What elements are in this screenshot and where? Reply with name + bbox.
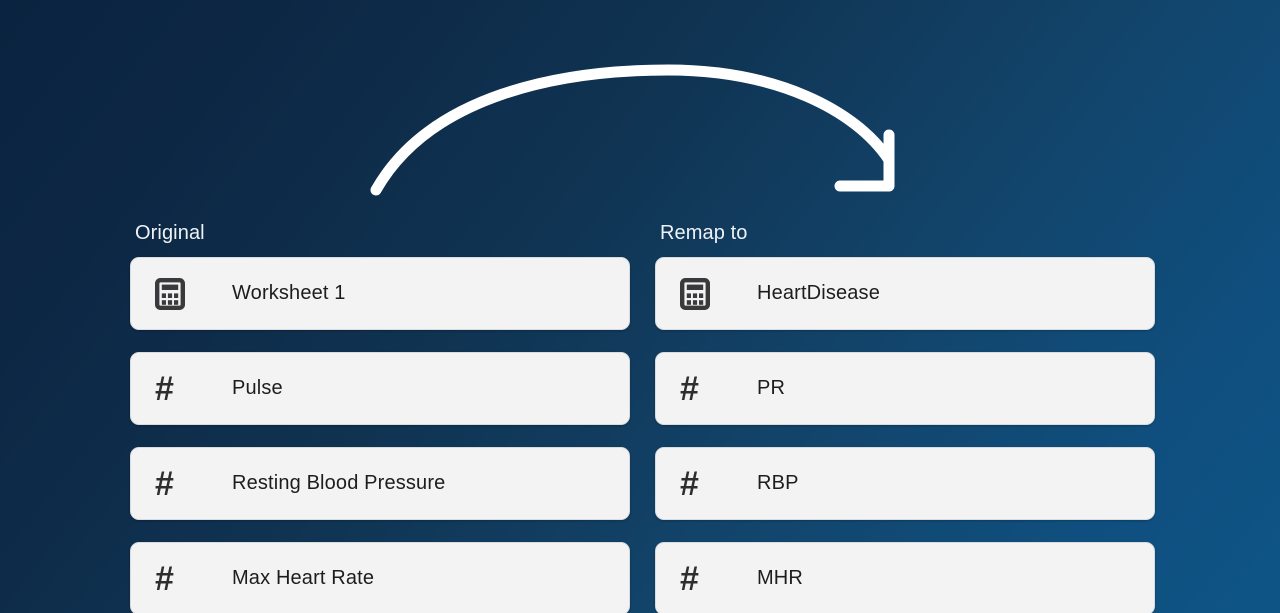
hash-icon: # [680,562,720,596]
hash-glyph: # [680,467,698,501]
field-card-original-3[interactable]: # Max Heart Rate [130,542,630,613]
field-card-original-0[interactable]: Worksheet 1 [130,257,630,330]
column-label-original: Original [130,221,630,245]
field-card-remap-3[interactable]: # MHR [655,542,1155,613]
hash-icon: # [155,372,195,406]
field-name-remap-0: HeartDisease [757,282,880,305]
worksheet-icon [155,278,195,310]
hash-icon: # [680,467,720,501]
field-name-remap-1: PR [757,377,785,400]
hash-icon: # [680,372,720,406]
remap-columns: Original Worksheet 1 [130,221,1155,613]
field-name-original-2: Resting Blood Pressure [232,472,445,495]
card-list-remap-to: HeartDisease # PR # RBP # MHR [655,257,1155,613]
worksheet-icon [680,278,720,310]
hash-icon: # [155,467,195,501]
card-list-original: Worksheet 1 # Pulse # Resting Blood Pres… [130,257,630,613]
column-original: Original Worksheet 1 [130,221,630,613]
field-card-original-1[interactable]: # Pulse [130,352,630,425]
hash-glyph: # [155,372,173,406]
field-name-original-3: Max Heart Rate [232,567,374,590]
field-card-original-2[interactable]: # Resting Blood Pressure [130,447,630,520]
column-label-remap-to: Remap to [655,221,1155,245]
hash-glyph: # [680,562,698,596]
field-name-remap-2: RBP [757,472,799,495]
hash-icon: # [155,562,195,596]
field-name-original-1: Pulse [232,377,283,400]
field-name-remap-3: MHR [757,567,803,590]
arrow-arc [376,70,889,190]
hash-glyph: # [680,372,698,406]
column-remap-to: Remap to HeartDisease [655,221,1155,613]
arrow-head [840,135,889,186]
hash-glyph: # [155,562,173,596]
field-card-remap-1[interactable]: # PR [655,352,1155,425]
field-card-remap-0[interactable]: HeartDisease [655,257,1155,330]
field-name-original-0: Worksheet 1 [232,282,346,305]
hash-glyph: # [155,467,173,501]
field-card-remap-2[interactable]: # RBP [655,447,1155,520]
